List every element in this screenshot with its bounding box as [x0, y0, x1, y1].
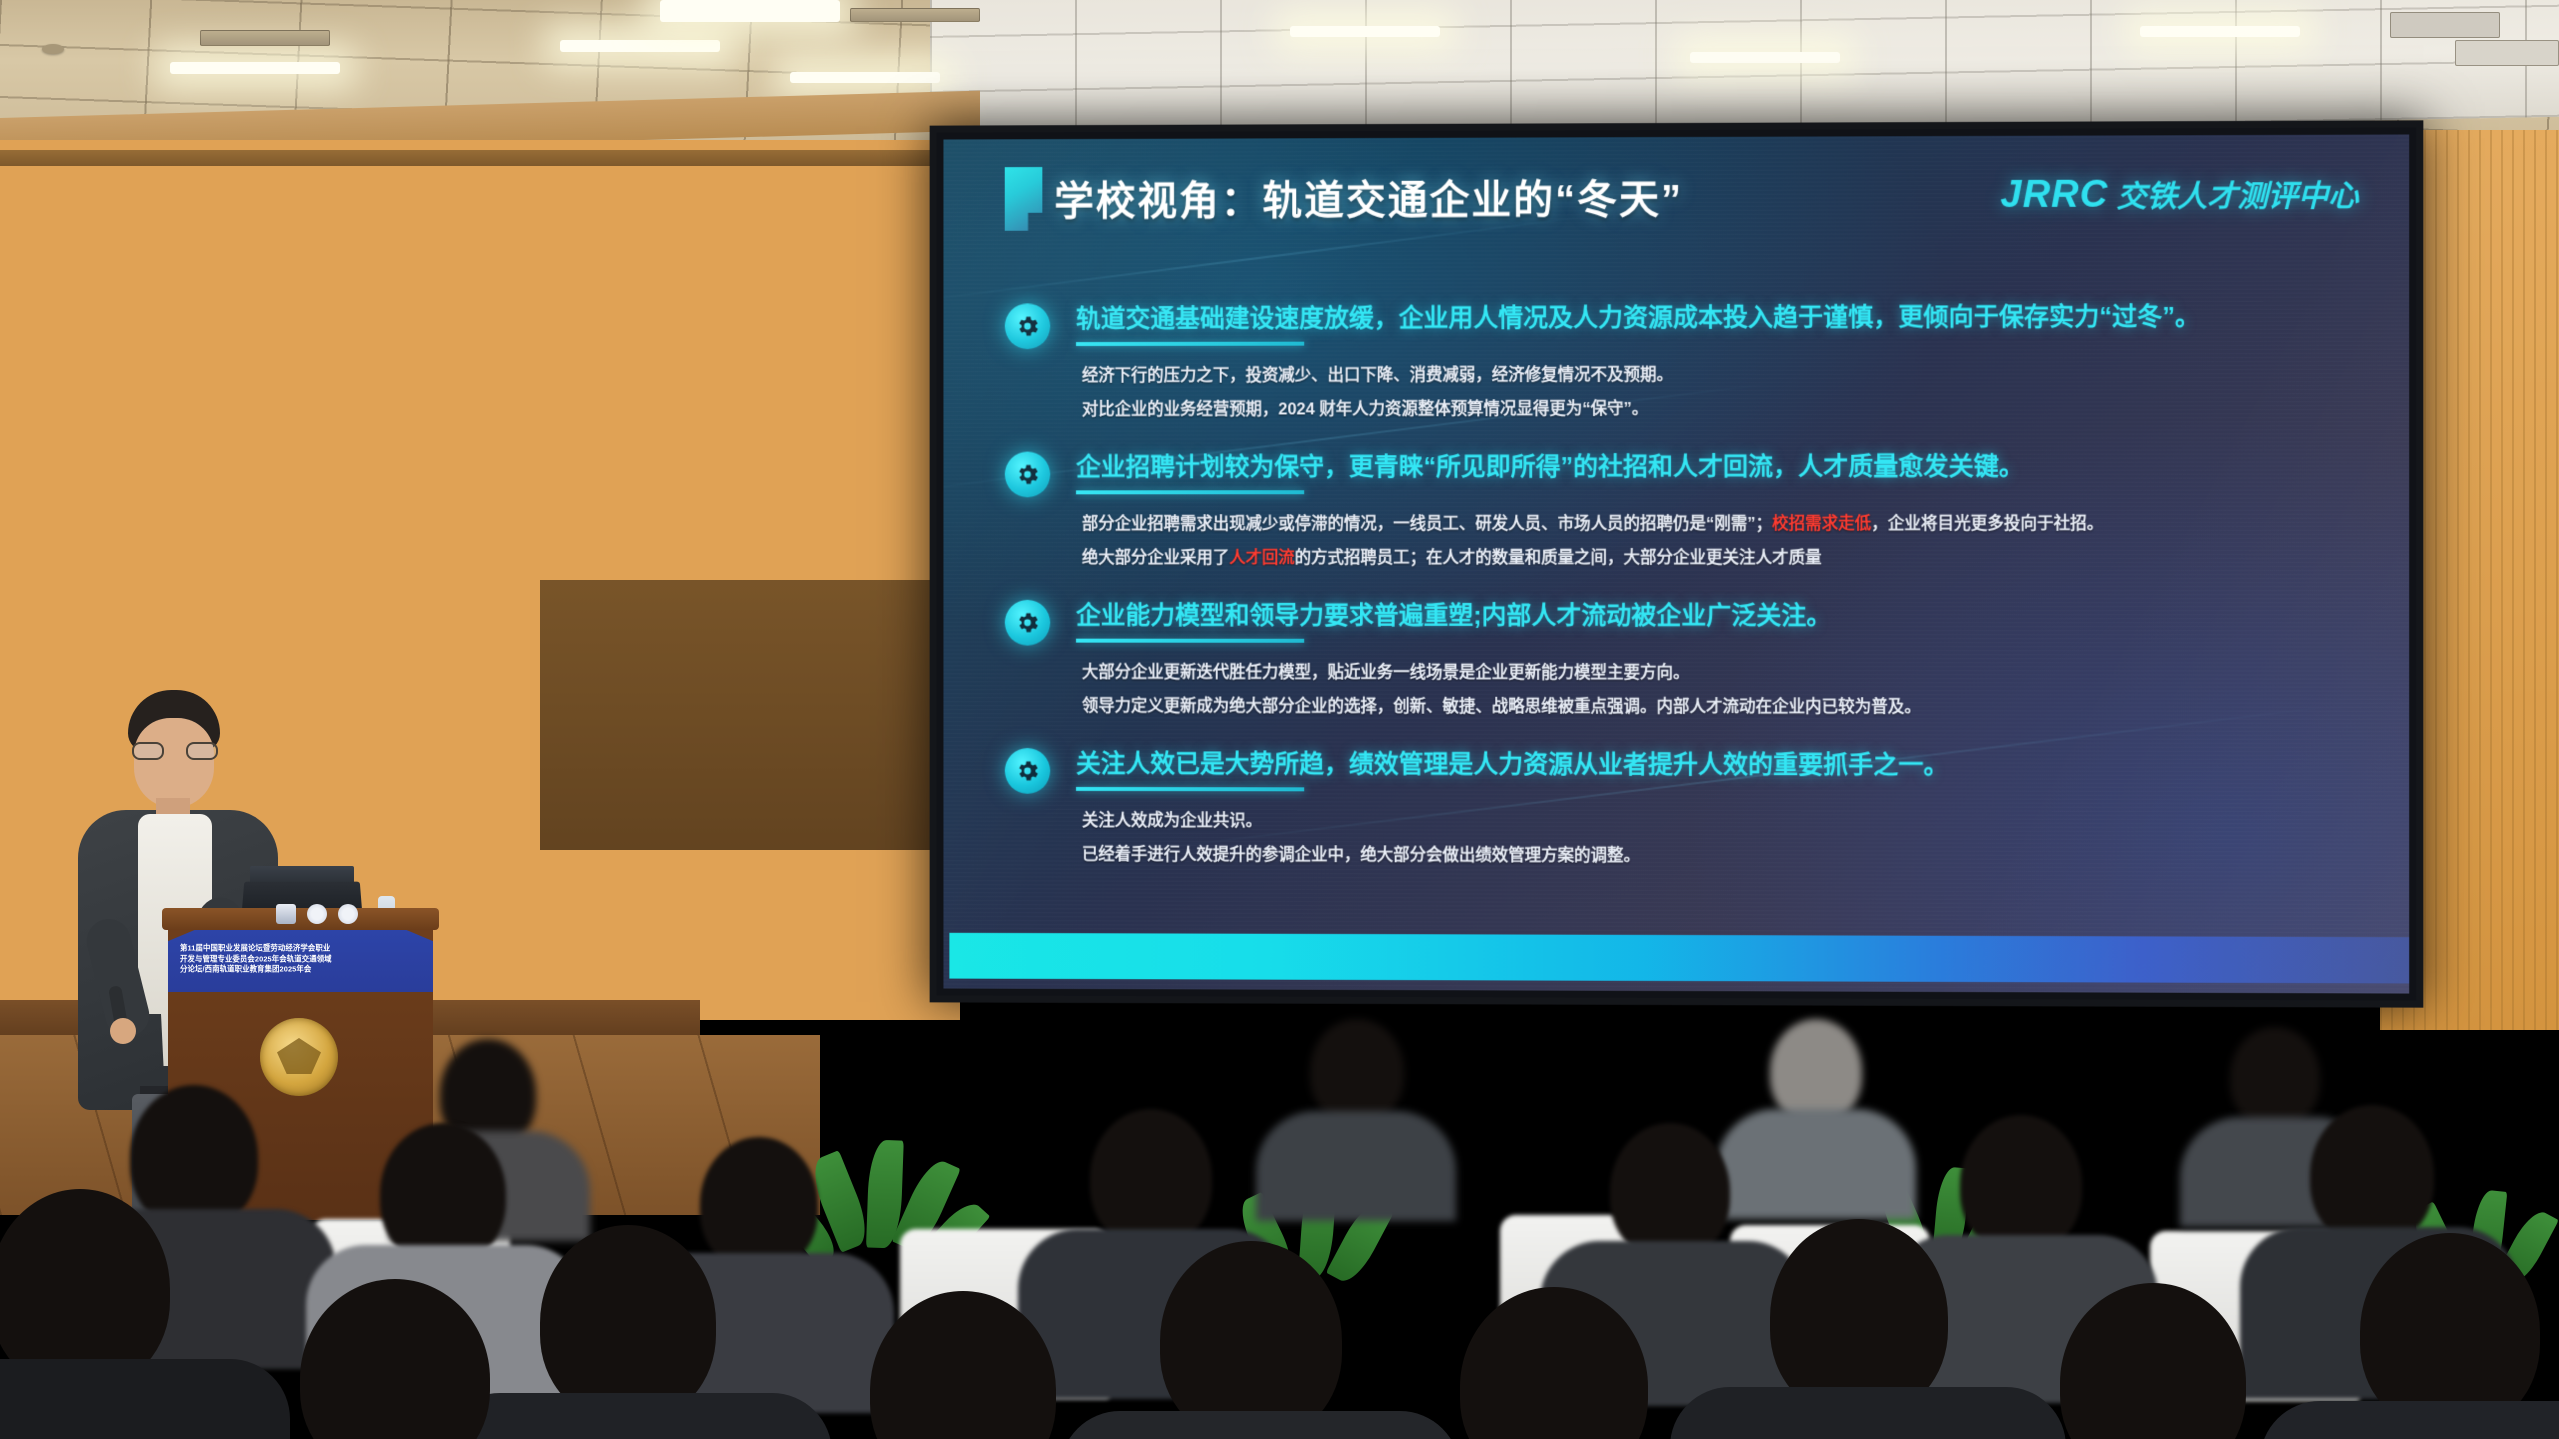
audience-head: [1770, 1019, 1862, 1123]
smoke-detector-icon: [42, 44, 64, 54]
headline-underline: [1076, 639, 1304, 643]
ac-vent: [2390, 12, 2500, 38]
brand-acronym: JRRC: [2000, 174, 2108, 216]
brand-logo: JRRC交铁人才测评中心: [2000, 171, 2358, 217]
block-subline: 对比企业的业务经营预期，2024 财年人力资源整体预算情况显得更为“保守”。: [1082, 392, 2385, 426]
slide-bottom-accent-bar: [949, 933, 2409, 984]
eyeglasses-icon: [132, 742, 218, 760]
headline-underline: [1076, 341, 1304, 345]
audience-head: [1310, 1019, 1404, 1123]
presentation-slide: 学校视角：轨道交通企业的“冬天” JRRC交铁人才测评中心 轨道交通基础建设速度…: [943, 134, 2409, 993]
headline-underline: [1076, 490, 1304, 494]
audience-head: [1610, 1123, 1730, 1259]
block-subline: 领导力定义更新成为绝大部分企业的选择，创新、敏捷、战略思维被重点强调。内部人才流…: [1082, 691, 2385, 725]
gear-icon: [1005, 748, 1051, 794]
podium-banner: 第11届中国职业发展论坛暨劳动经济学会职业 开发与管理专业委员会2025年会轨道…: [168, 930, 433, 992]
wall-trim-band: [0, 150, 940, 166]
gear-icon: [1005, 452, 1051, 498]
ceiling-light: [1290, 26, 1440, 37]
audience-shoulders: [1716, 1109, 1916, 1219]
block-headline: 企业招聘计划较为保守，更青睐“所见即所得”的社招和人才回流，人才质量愈发关键。: [1076, 450, 2385, 485]
audience-shoulders: [0, 1359, 290, 1439]
block-subline: 经济下行的压力之下，投资减少、出口下降、消费减弱，经济修复情况不及预期。: [1082, 358, 2385, 392]
org-logo-icon: [338, 904, 358, 924]
podium-logo-row: [276, 904, 406, 926]
audience-shoulders: [1670, 1387, 2066, 1439]
org-logo-icon: [307, 904, 327, 924]
gear-icon: [1005, 303, 1051, 349]
projection-screen: 学校视角：轨道交通企业的“冬天” JRRC交铁人才测评中心 轨道交通基础建设速度…: [930, 120, 2424, 1007]
audience-shoulders: [2260, 1401, 2559, 1439]
block-subline: 部分企业招聘需求出现减少或停滞的情况，一线员工、研发人员、市场人员的招聘仍是“刚…: [1082, 508, 2385, 541]
audience-shoulders: [1060, 1411, 1460, 1439]
audience-head: [380, 1123, 506, 1265]
audience-shoulders: [440, 1393, 832, 1439]
audience-shoulders: [1256, 1111, 1456, 1221]
ceiling-light: [790, 72, 940, 83]
slide-block: 企业招聘计划较为保守，更青睐“所见即所得”的社招和人才回流，人才质量愈发关键。 …: [1005, 450, 2385, 574]
podium-banner-line: 第11届中国职业发展论坛暨劳动经济学会职业: [180, 943, 423, 954]
ac-vent: [850, 8, 980, 22]
title-accent-block-icon: [1005, 167, 1043, 231]
org-logo-icon: [276, 904, 296, 924]
ceiling-light: [660, 0, 840, 22]
block-subline: 已经着手进行人效提升的参调企业中，绝大部分会做出绩效管理方案的调整。: [1082, 839, 2385, 874]
gear-icon: [1005, 600, 1051, 646]
block-headline: 企业能力模型和领导力要求普遍重塑;内部人才流动被企业广泛关注。: [1076, 600, 2385, 634]
slide-body: 轨道交通基础建设速度放缓，企业用人情况及人力资源成本投入趋于谨慎，更倾向于保存实…: [1005, 300, 2385, 915]
block-headline: 轨道交通基础建设速度放缓，企业用人情况及人力资源成本投入趋于谨慎，更倾向于保存实…: [1076, 300, 2385, 336]
block-subline: 关注人效成为企业共识。: [1082, 805, 2385, 840]
block-subline: 绝大部分企业采用了人才回流的方式招聘员工；在人才的数量和质量之间，大部分企业更关…: [1082, 542, 2385, 574]
ceiling-light: [1690, 52, 1840, 63]
ac-vent: [2455, 40, 2559, 66]
speaker-face: [134, 718, 214, 808]
block-headline: 关注人效已是大势所趋，绩效管理是人力资源从业者提升人效的重要抓手之一。: [1076, 748, 2385, 784]
audience-head: [540, 1225, 716, 1421]
audience: [0, 1019, 2559, 1439]
highlight-text: 人才回流: [1229, 549, 1295, 567]
slide-block: 企业能力模型和领导力要求普遍重塑;内部人才流动被企业广泛关注。 大部分企业更新迭…: [1005, 600, 2385, 724]
slide-block: 轨道交通基础建设速度放缓，企业用人情况及人力资源成本投入趋于谨慎，更倾向于保存实…: [1005, 300, 2385, 425]
slide-block: 关注人效已是大势所趋，绩效管理是人力资源从业者提升人效的重要抓手之一。 关注人效…: [1005, 748, 2385, 874]
brand-chinese-name: 交铁人才测评中心: [2116, 180, 2358, 214]
conference-room-photo: 学校视角：轨道交通企业的“冬天” JRRC交铁人才测评中心 轨道交通基础建设速度…: [0, 0, 2559, 1439]
audience-head: [1160, 1241, 1342, 1439]
audience-head: [2230, 1027, 2320, 1127]
highlight-text: 校招需求走低: [1772, 515, 1871, 533]
ac-vent: [200, 30, 330, 46]
podium-banner-line: 分论坛/西南轨道职业教育集团2025年会: [180, 964, 423, 975]
slide-title: 学校视角：轨道交通企业的“冬天”: [1054, 167, 1683, 227]
wall-trim-band: [540, 580, 960, 850]
audience-head: [2310, 1105, 2434, 1245]
audience-head: [130, 1085, 258, 1229]
ceiling-light: [170, 62, 340, 74]
ceiling-light: [560, 40, 720, 52]
ceiling-light: [2140, 26, 2300, 37]
headline-underline: [1076, 787, 1304, 791]
audience-head: [1090, 1109, 1212, 1247]
slide-title-row: 学校视角：轨道交通企业的“冬天” JRRC交铁人才测评中心: [1005, 157, 2369, 241]
podium-banner-line: 开发与管理专业委员会2025年会轨道交通领域: [180, 954, 423, 965]
audience-head: [1960, 1115, 2082, 1253]
audience-head: [700, 1137, 818, 1271]
block-subline: 大部分企业更新迭代胜任力模型，贴近业务一线场景是企业更新能力模型主要方向。: [1082, 656, 2385, 689]
